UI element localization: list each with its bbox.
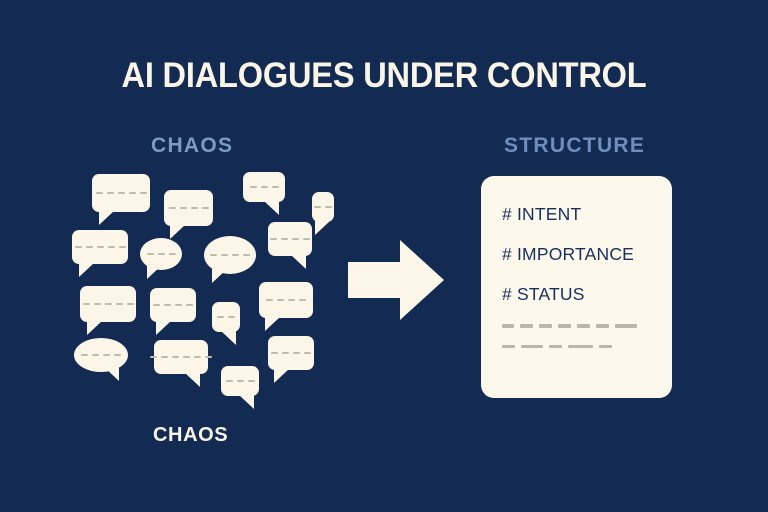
- bubble-dash-text: [147, 253, 176, 256]
- speech-bubble: [154, 340, 208, 374]
- bubble-dash-text: [83, 303, 134, 306]
- speech-bubble: [140, 238, 182, 270]
- bubble-tail: [87, 321, 102, 335]
- bubble-tail: [264, 201, 279, 215]
- dash-segment: [558, 324, 571, 328]
- bubble-tail: [239, 395, 254, 409]
- bubble-dash-text: [153, 304, 193, 307]
- speech-bubble: [221, 366, 259, 396]
- structure-card: # INTENT # IMPORTANCE # STATUS: [481, 176, 672, 398]
- bubble-dash-text: [250, 186, 279, 189]
- bubble-dash-text: [266, 299, 306, 302]
- bubble-tail: [170, 225, 185, 239]
- card-placeholder-lines: [502, 324, 672, 348]
- chaos-bubble-cluster: [60, 160, 330, 410]
- bubble-dash-text: [271, 352, 311, 355]
- speech-bubble: [92, 174, 150, 212]
- dash-segment: [596, 324, 609, 328]
- dash-segment: [568, 345, 593, 349]
- section-label-structure: STRUCTURE: [504, 134, 645, 158]
- dash-segment: [539, 324, 552, 328]
- speech-bubble: [150, 288, 196, 322]
- dash-segment: [577, 324, 590, 328]
- bubble-dash-text: [314, 206, 332, 209]
- bubble-tail: [156, 321, 171, 335]
- speech-bubble: [312, 192, 334, 222]
- bubble-tail: [104, 367, 119, 381]
- poster-canvas: AI DIALOGUES UNDER CONTROL CHAOS STRUCTU…: [0, 0, 768, 512]
- speech-bubble: [72, 230, 128, 264]
- bubble-tail: [79, 263, 94, 277]
- bubble-tail: [274, 369, 289, 383]
- speech-bubble: [243, 172, 285, 202]
- dash-row-2: [502, 345, 672, 349]
- dash-segment: [520, 324, 533, 328]
- dash-segment: [521, 345, 543, 349]
- card-field-status: # STATUS: [502, 284, 672, 305]
- bubble-tail: [265, 317, 280, 331]
- bubble-dash-text: [96, 192, 147, 195]
- bubble-dash-text: [270, 238, 310, 241]
- speech-bubble: [259, 282, 313, 318]
- bubble-dash-text: [75, 246, 126, 249]
- speech-bubble: [204, 236, 256, 274]
- bubble-tail: [147, 265, 162, 279]
- bubble-tail: [221, 331, 236, 345]
- speech-bubble: [74, 338, 128, 372]
- dash-row-1: [502, 324, 672, 328]
- bubble-tail: [291, 255, 306, 269]
- section-label-chaos: CHAOS: [151, 134, 233, 158]
- speech-bubble: [212, 302, 240, 332]
- bubble-tail: [315, 221, 330, 235]
- dash-segment: [615, 324, 637, 328]
- bubble-dash-text: [226, 380, 255, 383]
- speech-bubble: [268, 336, 314, 370]
- bubble-dash-text: [81, 354, 121, 357]
- dash-segment: [599, 345, 612, 349]
- bubble-tail: [99, 211, 114, 225]
- bubble-dash-text: [150, 356, 212, 359]
- dash-segment: [502, 345, 515, 349]
- speech-bubble: [164, 190, 213, 226]
- arrow-right-icon: [348, 238, 444, 322]
- bubble-dash-text: [210, 254, 250, 257]
- bubble-tail: [185, 373, 200, 387]
- dash-segment: [502, 324, 514, 328]
- bubble-dash-text: [169, 207, 209, 210]
- speech-bubble: [80, 286, 136, 322]
- page-title: AI DIALOGUES UNDER CONTROL: [27, 56, 741, 96]
- bubble-tail: [212, 269, 227, 283]
- card-field-importance: # IMPORTANCE: [502, 244, 672, 265]
- card-field-intent: # INTENT: [502, 204, 672, 225]
- dash-segment: [549, 345, 562, 349]
- caption-chaos: CHAOS: [153, 424, 228, 447]
- speech-bubble: [268, 222, 312, 256]
- bubble-dash-text: [217, 316, 235, 319]
